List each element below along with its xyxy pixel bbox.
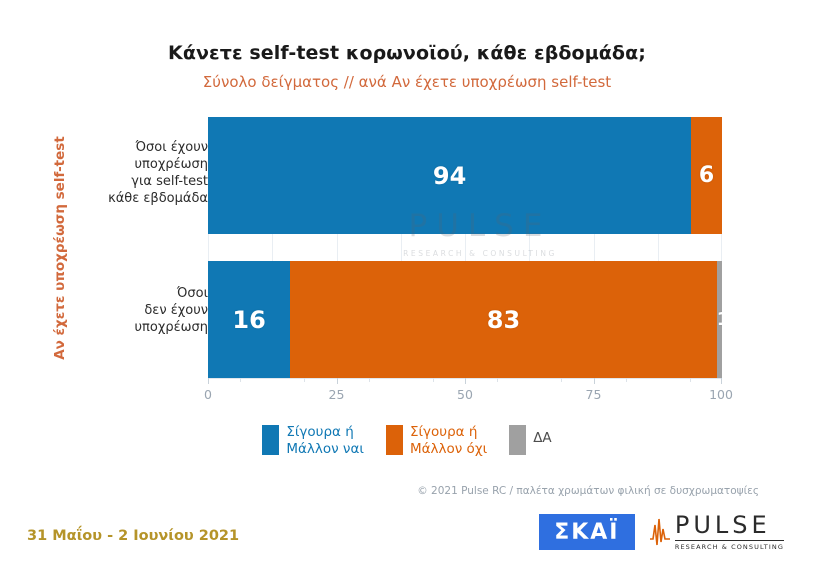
skai-logo: ΣΚΑΪ [539,514,635,550]
footer-logos: ΣΚΑΪ PULSE RESEARCH & CONSULTING [539,513,784,551]
legend-item-no[interactable]: Σίγουρα ή Μάλλον όχι [386,424,487,458]
bar-value-label: 94 [433,162,466,190]
legend-item-da[interactable]: ΔΑ [509,424,551,455]
bar-value-label: 83 [487,306,520,334]
bar-row: 94 6 [208,117,722,234]
legend-item-yes[interactable]: Σίγουρα ή Μάλλον ναι [262,424,364,458]
pulse-rule [675,540,784,541]
pulse-wordmark: PULSE [675,513,784,537]
x-axis: 0 25 50 75 100 [208,378,722,408]
x-tick-label-100: 100 [699,387,743,402]
pulse-wave-icon [649,515,671,549]
category-label-1: Όσοι δεν έχουν υποχρέωση [58,286,208,337]
category-label-0: Όσοι έχουν υποχρέωση για self-test κάθε … [58,140,208,208]
x-tick-label-25: 25 [315,387,359,402]
copyright-note: © 2021 Pulse RC / παλέτα χρωμάτων φιλική… [0,485,814,497]
bar-segment-yes: 16 [208,261,290,378]
x-tick-label-0: 0 [186,387,230,402]
category-axis-labels: Όσοι έχουν υποχρέωση για self-test κάθε … [40,0,208,565]
legend-swatch-orange [386,425,403,455]
x-tick-label-50: 50 [443,387,487,402]
legend-label-da: ΔΑ [533,430,551,447]
plot-area: 94 6 16 83 1 [208,117,722,378]
legend-label-no: Σίγουρα ή Μάλλον όχι [410,424,487,458]
legend-swatch-grey [509,425,526,455]
bar-segment-no: 83 [290,261,717,378]
survey-date: 31 Μαΐου - 2 Ιουνίου 2021 [27,528,239,544]
x-tick-label-75: 75 [572,387,616,402]
bar-value-label: 16 [232,306,265,334]
legend-label-yes: Σίγουρα ή Μάλλον ναι [286,424,364,458]
legend: Σίγουρα ή Μάλλον ναι Σίγουρα ή Μάλλον όχ… [0,424,814,458]
legend-swatch-blue [262,425,279,455]
bar-segment-yes: 94 [208,117,691,234]
bar-segment-da: 1 [717,261,722,378]
bar-value-label: 6 [699,163,714,188]
bar-segment-no: 6 [691,117,722,234]
pulse-tagline: RESEARCH & CONSULTING [675,543,784,551]
pulse-logo: PULSE RESEARCH & CONSULTING [649,513,784,551]
bar-row: 16 83 1 [208,261,722,378]
bar-value-label: 1 [717,309,722,330]
